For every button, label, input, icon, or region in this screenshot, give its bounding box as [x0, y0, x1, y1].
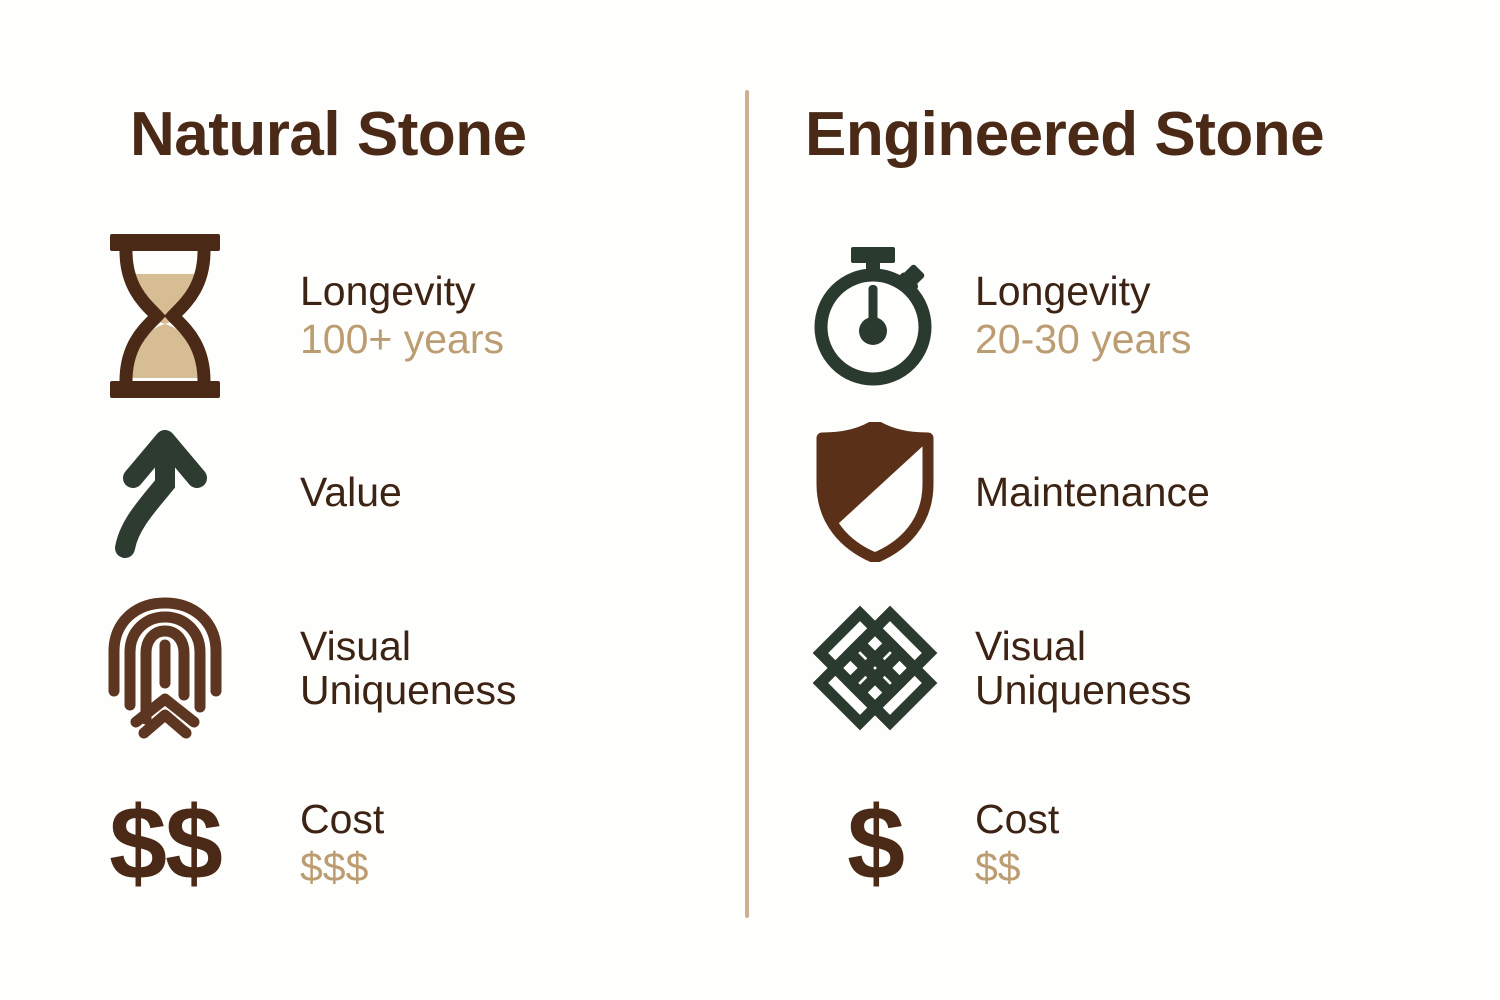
feature-list-engineered-stone: Longevity 20-30 years — [775, 228, 1475, 932]
text-cell: Cost $$$ — [300, 797, 730, 891]
icon-cell — [30, 404, 300, 580]
text-cell: Maintenance — [975, 470, 1475, 514]
column-natural-stone: Natural Stone — [30, 0, 730, 1000]
icon-cell — [775, 580, 975, 756]
feature-row-maintenance: Maintenance — [775, 404, 1475, 580]
feature-row-visual-uniqueness: Visual Uniqueness — [30, 580, 730, 756]
curved-up-arrow-icon — [105, 422, 225, 562]
feature-label: Visual — [300, 624, 730, 668]
feature-sublabel: 100+ years — [300, 316, 730, 363]
icon-cell: $ — [775, 756, 975, 932]
feature-row-longevity: Longevity 20-30 years — [775, 228, 1475, 404]
icon-cell — [775, 404, 975, 580]
text-cell: Longevity 100+ years — [300, 269, 730, 363]
feature-sublabel: 20-30 years — [975, 316, 1475, 363]
dollar-sign-icon: $ — [847, 792, 903, 896]
icon-cell — [30, 228, 300, 404]
celtic-knot-icon — [804, 597, 946, 739]
column-title-natural-stone: Natural Stone — [130, 104, 527, 166]
feature-row-cost: $$ Cost $$$ — [30, 756, 730, 932]
text-cell: Cost $$ — [975, 797, 1475, 891]
feature-row-visual-uniqueness: Visual Uniqueness — [775, 580, 1475, 756]
feature-label: Visual — [975, 624, 1475, 668]
icon-cell: $$ — [30, 756, 300, 932]
text-cell: Visual Uniqueness — [300, 624, 730, 713]
shield-icon — [814, 422, 936, 562]
feature-sublabel: $$ — [975, 844, 1475, 891]
text-cell: Value — [300, 470, 730, 514]
dollar-signs-icon: $$ — [109, 792, 221, 896]
feature-label: Longevity — [300, 269, 730, 313]
feature-label: Value — [300, 470, 730, 514]
hourglass-icon — [104, 232, 226, 400]
feature-sublabel: $$$ — [300, 844, 730, 891]
feature-row-longevity: Longevity 100+ years — [30, 228, 730, 404]
column-engineered-stone: Engineered Stone — [775, 0, 1475, 1000]
icon-cell — [30, 580, 300, 756]
feature-label-line2: Uniqueness — [300, 668, 730, 712]
feature-label: Maintenance — [975, 470, 1475, 514]
stopwatch-icon — [809, 241, 941, 391]
feature-row-cost: $ Cost $$ — [775, 756, 1475, 932]
column-title-engineered-stone: Engineered Stone — [805, 104, 1324, 166]
feature-label: Longevity — [975, 269, 1475, 313]
feature-label: Cost — [300, 797, 730, 841]
icon-cell — [775, 228, 975, 404]
text-cell: Longevity 20-30 years — [975, 269, 1475, 363]
feature-label: Cost — [975, 797, 1475, 841]
vertical-divider — [745, 90, 749, 918]
comparison-infographic: Natural Stone — [0, 0, 1500, 1000]
feature-list-natural-stone: Longevity 100+ years Value — [30, 228, 730, 932]
text-cell: Visual Uniqueness — [975, 624, 1475, 713]
feature-row-value: Value — [30, 404, 730, 580]
fingerprint-icon — [106, 595, 224, 741]
feature-label-line2: Uniqueness — [975, 668, 1475, 712]
